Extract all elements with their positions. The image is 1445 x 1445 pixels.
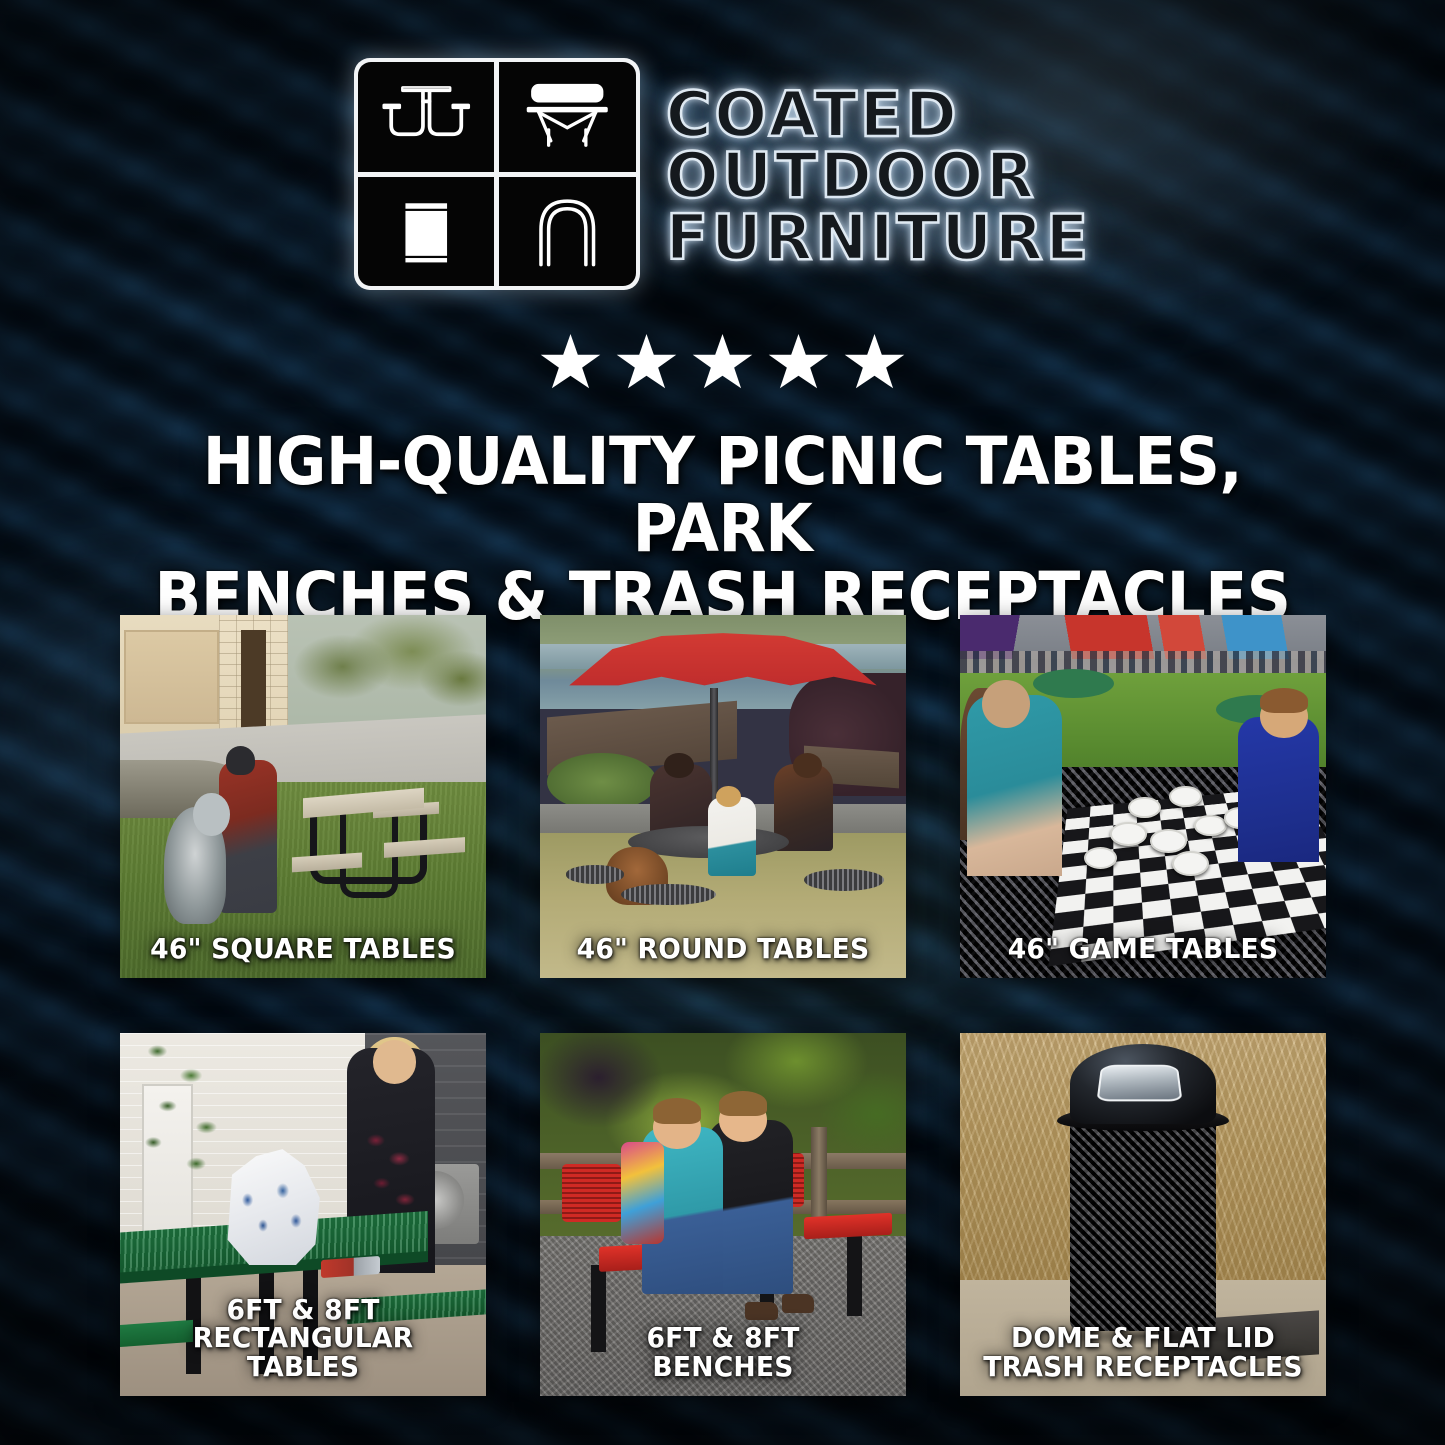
product-card-label: 6FT & 8FT RECTANGULAR TABLES	[126, 1296, 480, 1382]
product-card-label: 6FT & 8FT BENCHES	[546, 1324, 900, 1382]
product-label-line-1: DOME & FLAT LID	[975, 1324, 1311, 1353]
product-card-round-tables[interactable]: 46" ROUND TABLES	[540, 615, 906, 978]
star-icon	[616, 334, 678, 394]
picnic-table-front-icon	[358, 62, 495, 172]
star-icon	[692, 334, 754, 394]
product-label-line-1: 46" GAME TABLES	[975, 935, 1311, 964]
product-card-rectangular-tables[interactable]: 6FT & 8FT RECTANGULAR TABLES	[120, 1033, 486, 1396]
product-label-line-1: 46" SQUARE TABLES	[135, 935, 471, 964]
trash-receptacle-icon	[358, 177, 495, 287]
product-label-line-1: 46" ROUND TABLES	[555, 935, 891, 964]
product-photo-round-tables	[540, 615, 906, 978]
product-label-line-1: 6FT & 8FT	[555, 1324, 891, 1353]
product-photo-game-tables	[960, 615, 1326, 978]
star-icon	[844, 334, 906, 394]
product-card-trash-receptacles[interactable]: DOME & FLAT LID TRASH RECEPTACLES	[960, 1033, 1326, 1396]
product-card-label: 46" ROUND TABLES	[546, 935, 900, 964]
product-card-label: 46" GAME TABLES	[966, 935, 1320, 964]
star-icon	[540, 334, 602, 394]
product-label-line-2: TRASH RECEPTACLES	[975, 1353, 1311, 1382]
product-card-square-tables[interactable]: 46" SQUARE TABLES	[120, 615, 486, 978]
product-label-line-2: BENCHES	[555, 1353, 891, 1382]
star-icon	[768, 334, 830, 394]
product-label-line-2: RECTANGULAR TABLES	[135, 1324, 471, 1382]
brand-header: COATED OUTDOOR FURNITURE	[0, 58, 1445, 290]
product-label-line-1: 6FT & 8FT	[135, 1296, 471, 1325]
brand-wordmark: COATED OUTDOOR FURNITURE	[666, 81, 1091, 268]
product-card-label: DOME & FLAT LID TRASH RECEPTACLES	[966, 1324, 1320, 1382]
brand-word-3: FURNITURE	[666, 208, 1091, 268]
picnic-table-side-icon	[499, 62, 636, 172]
promotional-poster: COATED OUTDOOR FURNITURE HIGH-QUALITY PI…	[0, 0, 1445, 1445]
product-card-label: 46" SQUARE TABLES	[126, 935, 480, 964]
product-photo-square-tables	[120, 615, 486, 978]
page-title: HIGH-QUALITY PICNIC TABLES, PARK BENCHES…	[60, 428, 1385, 630]
brand-word-1: COATED	[666, 85, 1091, 145]
product-card-game-tables[interactable]: 46" GAME TABLES	[960, 615, 1326, 978]
product-card-benches[interactable]: 6FT & 8FT BENCHES	[540, 1033, 906, 1396]
product-grid: 46" SQUARE TABLES	[120, 615, 1326, 1396]
brand-logo-mark	[354, 58, 640, 290]
headline-line-1: HIGH-QUALITY PICNIC TABLES, PARK	[106, 428, 1338, 563]
star-rating	[0, 334, 1445, 394]
brand-word-2: OUTDOOR	[666, 146, 1091, 206]
arch-bike-rack-icon	[499, 177, 636, 287]
